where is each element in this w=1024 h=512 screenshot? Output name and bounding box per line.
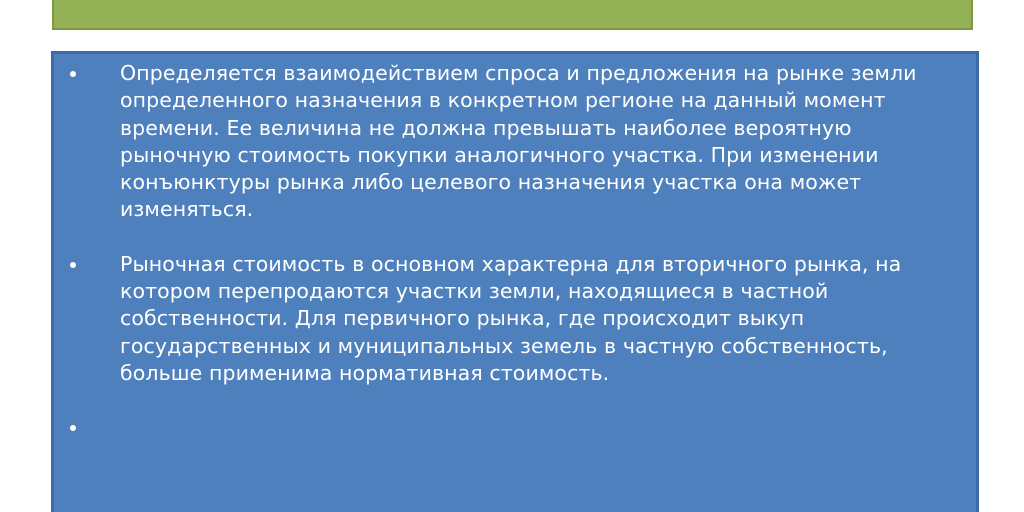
title-placeholder[interactable] <box>52 0 973 30</box>
slide-canvas: Определяется взаимодействием спроса и пр… <box>0 0 1024 512</box>
body-placeholder[interactable]: Определяется взаимодействием спроса и пр… <box>51 51 979 512</box>
list-item-text <box>120 414 962 441</box>
bullet-dot-icon <box>70 71 76 77</box>
bullet-dot-icon <box>70 425 76 431</box>
list-item-text: Определяется взаимодействием спроса и пр… <box>120 60 962 224</box>
bullet-dot-icon <box>70 262 76 268</box>
list-item[interactable] <box>68 414 962 441</box>
list-item[interactable]: Рыночная стоимость в основном характерна… <box>68 251 962 387</box>
list-item[interactable]: Определяется взаимодействием спроса и пр… <box>68 60 962 224</box>
bullet-list: Определяется взаимодействием спроса и пр… <box>68 60 962 441</box>
list-item-text: Рыночная стоимость в основном характерна… <box>120 251 962 387</box>
